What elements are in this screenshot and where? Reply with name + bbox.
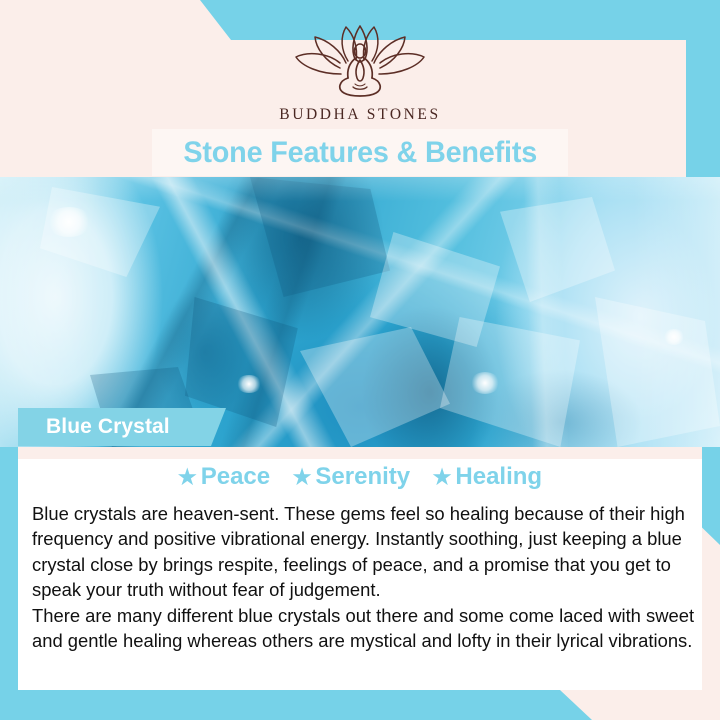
description-paragraph-2: There are many different blue crystals o…: [32, 603, 696, 654]
content-panel: ★Peace ★Serenity ★Healing Blue crystals …: [18, 447, 702, 690]
benefit-item-healing: ★Healing: [433, 463, 543, 491]
star-icon: ★: [293, 466, 312, 489]
stone-name-label: Blue Crystal: [18, 408, 226, 446]
benefit-label: Healing: [455, 463, 542, 490]
brand-header: BUDDHA STONES: [0, 22, 720, 124]
lotus-meditation-icon: [285, 22, 435, 100]
panel-top-tint: [18, 447, 702, 459]
bottom-accent-band: [0, 690, 720, 720]
star-icon: ★: [433, 466, 452, 489]
page-title-banner: Stone Features & Benefits: [152, 129, 568, 176]
photo-edge-fade: [0, 177, 720, 447]
description-paragraph-1: Blue crystals are heaven-sent. These gem…: [32, 501, 696, 603]
benefit-item-serenity: ★Serenity: [293, 463, 411, 491]
blue-crystal-photo: [0, 177, 720, 447]
description-text: Blue crystals are heaven-sent. These gem…: [32, 501, 696, 653]
benefit-label: Peace: [201, 463, 270, 490]
page-title: Stone Features & Benefits: [183, 136, 537, 170]
stone-name-text: Blue Crystal: [46, 415, 170, 439]
brand-name: BUDDHA STONES: [0, 106, 720, 124]
infographic-card: BUDDHA STONES Stone Features & Benefits …: [0, 0, 720, 720]
star-icon: ★: [178, 466, 197, 489]
benefit-item-peace: ★Peace: [178, 463, 270, 491]
left-accent-band: [0, 418, 18, 720]
benefit-label: Serenity: [315, 463, 410, 490]
benefits-list: ★Peace ★Serenity ★Healing: [18, 463, 702, 491]
